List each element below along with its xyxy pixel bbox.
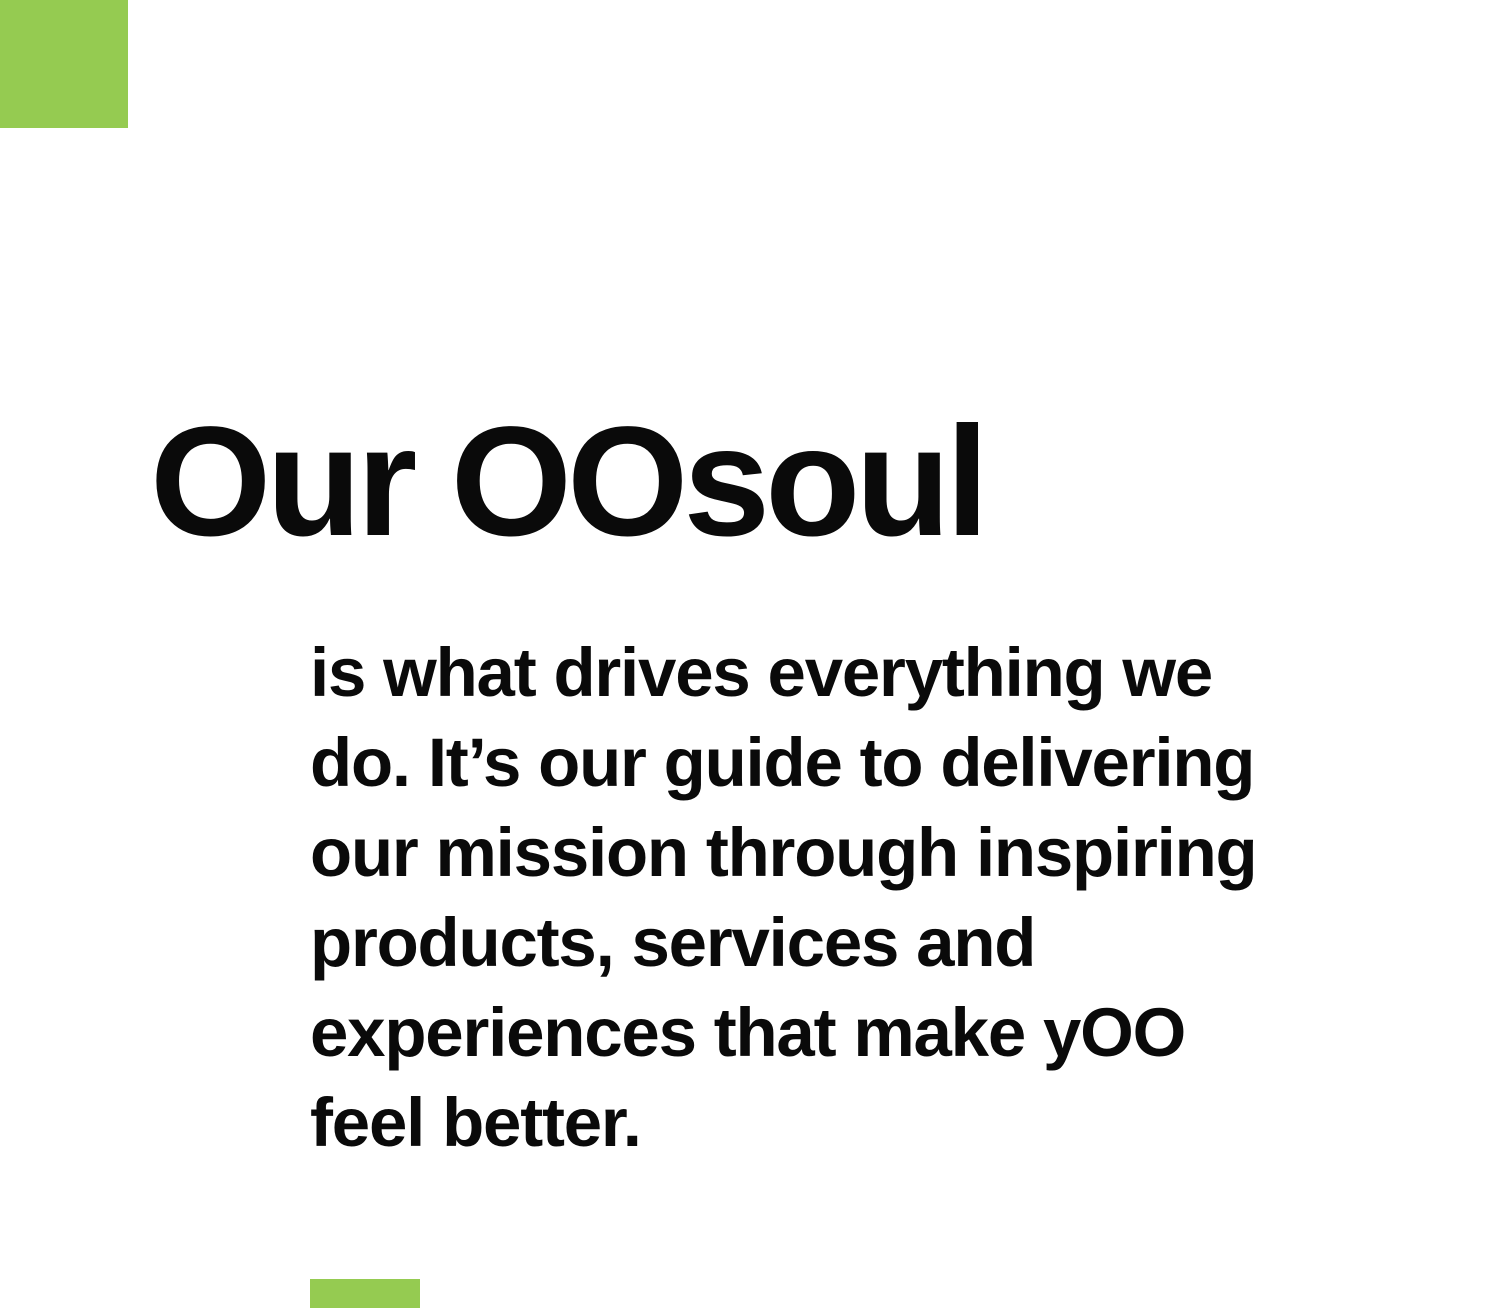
body-line: do. It’s our guide to delivering: [310, 718, 1500, 808]
body-line: our mission through inspiring: [310, 808, 1500, 898]
corner-accent-square: [0, 0, 128, 128]
body-line: experiences that make yOO: [310, 988, 1500, 1078]
slide-canvas: Our OOsoul is what drives everything we …: [0, 0, 1500, 1308]
body-copy-block: is what drives everything we do. It’s ou…: [310, 628, 1500, 1168]
page-title: Our OOsoul: [150, 404, 1350, 560]
body-line: is what drives everything we: [310, 628, 1500, 718]
body-line: products, services and: [310, 898, 1500, 988]
body-line: feel better.: [310, 1078, 1500, 1168]
bottom-accent-bar: [310, 1279, 420, 1308]
